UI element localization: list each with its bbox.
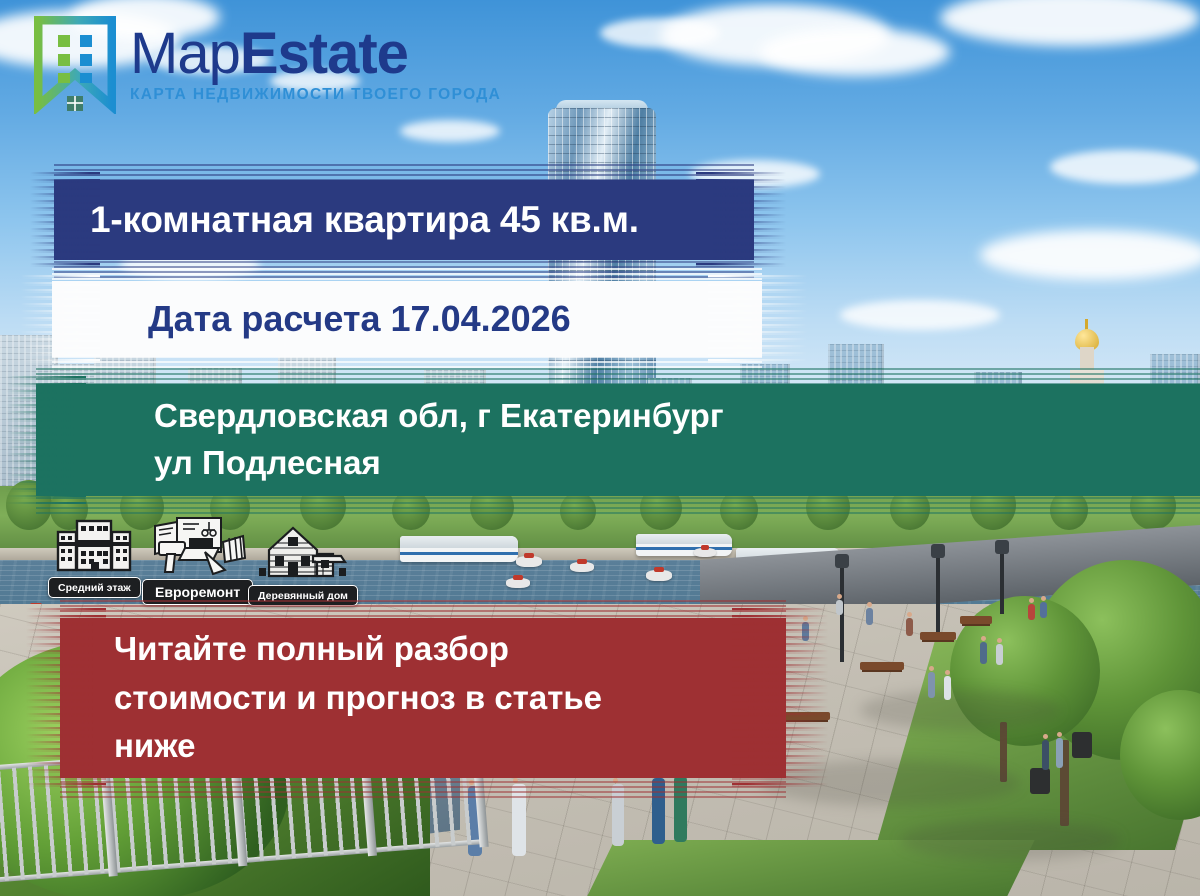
brand-tagline: КАРТА НЕДВИЖИМОСТИ ТВОЕГО ГОРОДА [130, 86, 501, 104]
pedal-boat [506, 578, 530, 588]
address-line-2: ул Подлесная [154, 440, 724, 487]
lamp-post [1000, 552, 1004, 614]
pedestrian [1042, 740, 1049, 770]
badge-middle-floor[interactable]: Средний этаж [48, 518, 141, 598]
apartment-buildings-icon [55, 518, 133, 579]
cta-line-3: ниже [114, 722, 602, 771]
banner-address-text: Свердловская обл, г Екатеринбург ул Подл… [154, 393, 724, 487]
poster: MapEstate КАРТА НЕДВИЖИМОСТИ ТВОЕГО ГОРО… [0, 0, 1200, 896]
badge-wooden-house[interactable]: Деревянный дом [248, 524, 358, 606]
banner-cta-text: Читайте полный разбор стоимости и прогно… [114, 625, 602, 771]
bookmark-building-icon [34, 16, 116, 114]
cta-line-2: стоимости и прогноз в статье [114, 674, 602, 723]
brand-wordmark: MapEstate КАРТА НЕДВИЖИМОСТИ ТВОЕГО ГОРО… [130, 16, 501, 104]
banner-address: Свердловская обл, г Екатеринбург ул Подл… [22, 376, 1200, 504]
badge-euro-renovation[interactable]: Евроремонт [142, 514, 253, 605]
pedestrian [1040, 602, 1047, 618]
bench [960, 616, 992, 624]
trash-bin [1030, 768, 1050, 794]
pedestrian [906, 618, 913, 636]
lamp-post [936, 556, 940, 632]
cta-line-1: Читайте полный разбор [114, 625, 602, 674]
badge-middle-floor-label: Средний этаж [48, 577, 141, 598]
pedal-boat [516, 556, 542, 567]
pedestrian [1056, 738, 1063, 768]
banner-property-text: 1-комнатная квартира 45 кв.м. [90, 199, 639, 241]
river-cruise-boat [400, 536, 518, 562]
pedestrian [836, 600, 843, 615]
banner-property: 1-комнатная квартира 45 кв.м. [44, 172, 764, 268]
renovation-tools-icon [149, 514, 247, 581]
feature-badges: Средний этаж [48, 518, 378, 604]
bench [920, 632, 956, 640]
address-line-1: Свердловская обл, г Екатеринбург [154, 393, 724, 440]
pedestrian [996, 644, 1003, 665]
brand-logo[interactable]: MapEstate КАРТА НЕДВИЖИМОСТИ ТВОЕГО ГОРО… [34, 16, 501, 114]
wooden-house-icon [257, 524, 349, 587]
river-cruise-boat [636, 534, 732, 556]
pedestrian [928, 672, 935, 698]
banner-date-text: Дата расчета 17.04.2026 [148, 298, 571, 340]
bench [860, 662, 904, 670]
pedestrian [980, 642, 987, 664]
brand-name-part2: Estate [240, 21, 408, 86]
pedestrian [1028, 604, 1035, 620]
brand-name: MapEstate [130, 26, 501, 81]
brand-name-part1: Map [130, 21, 240, 86]
pedestrian [866, 608, 873, 625]
pedal-boat [646, 570, 672, 581]
pedal-boat [694, 548, 716, 557]
pedestrian [944, 676, 951, 700]
banner-cta: Читайте полный разбор стоимости и прогно… [42, 608, 802, 788]
banner-date: Дата расчета 17.04.2026 [38, 275, 778, 363]
trash-bin [1072, 732, 1092, 758]
pedal-boat [570, 562, 594, 572]
